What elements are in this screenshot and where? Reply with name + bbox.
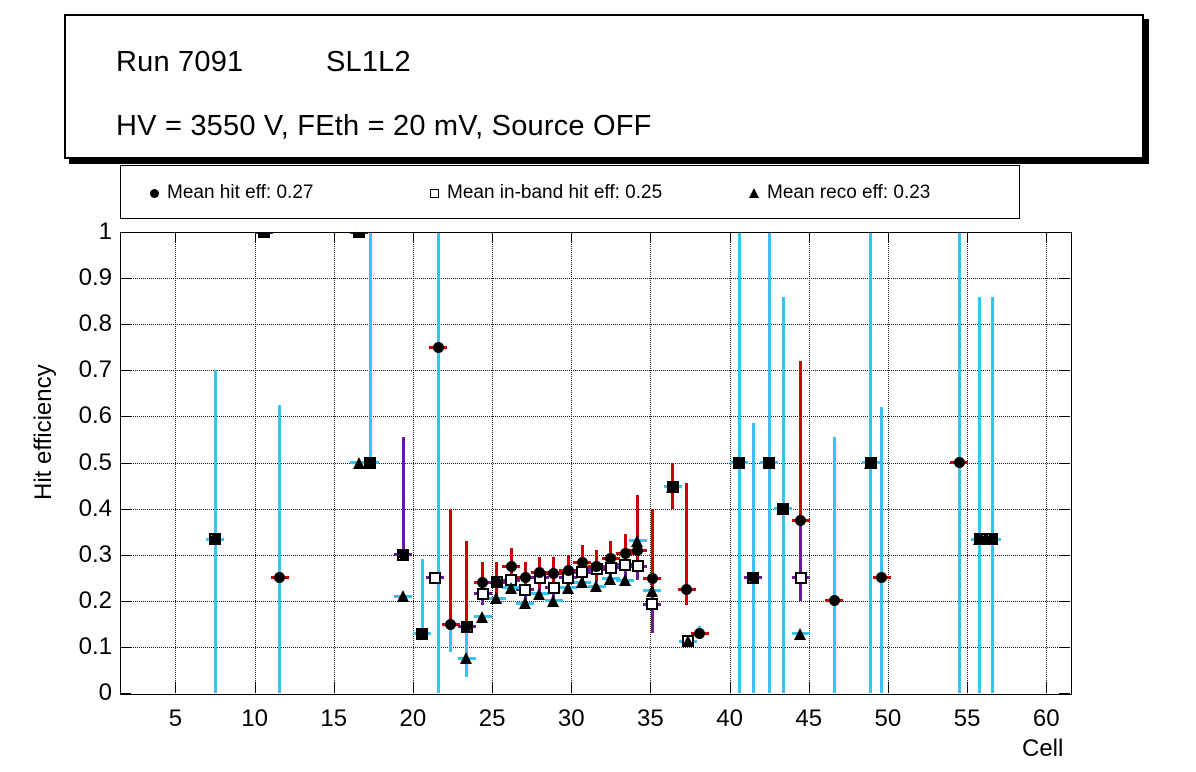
x-tick [571,232,572,243]
y-tick [1059,601,1070,602]
open-square-icon [421,166,447,220]
y-tick [120,601,131,602]
x-tick-label: 60 [1033,705,1060,733]
x-tick-label: 35 [637,705,664,733]
y-tick [120,463,131,464]
y-tick [1059,509,1070,510]
x-tick-label: 50 [875,705,902,733]
x-tick [650,682,651,693]
y-tick [1059,370,1070,371]
y-tick-label: 0.2 [48,587,112,615]
y-tick [1059,693,1070,694]
y-tick [120,509,131,510]
y-tick-label: 0 [48,679,112,707]
x-tick [809,232,810,243]
x-tick [730,232,731,243]
y-tick-label: 0.8 [48,310,112,338]
x-tick [809,682,810,693]
y-tick [1059,278,1070,279]
x-tick-label: 10 [241,705,268,733]
x-tick [413,682,414,693]
y-tick [120,647,131,648]
y-tick [1059,555,1070,556]
x-axis-title: Cell [1022,735,1063,763]
x-tick [888,682,889,693]
x-tick [1046,682,1047,693]
legend-label: Mean hit eff: 0.27 [167,182,313,204]
x-tick-label: 25 [479,705,506,733]
x-tick [334,682,335,693]
x-tick [175,232,176,243]
x-tick [650,232,651,243]
y-axis-title: Hit efficiency [30,364,58,500]
y-tick [1059,324,1070,325]
x-tick-label: 20 [400,705,427,733]
x-tick [255,682,256,693]
x-tick [730,682,731,693]
y-tick [120,693,131,694]
y-tick [120,278,131,279]
x-tick-label: 5 [169,705,182,733]
title-box: Run 7091 SL1L2 HV = 3550 V, FEth = 20 mV… [64,14,1144,159]
legend-label: Mean in-band hit eff: 0.25 [447,182,662,204]
x-tick-label: 45 [795,705,822,733]
y-tick-label: 0.9 [48,264,112,292]
y-tick [1059,463,1070,464]
plot-canvas: Run 7091 SL1L2 HV = 3550 V, FEth = 20 mV… [0,0,1196,772]
y-tick-label: 1 [48,218,112,246]
y-tick [120,324,131,325]
y-tick [1059,232,1070,233]
legend-entry-2: Mean reco eff: 0.23 [741,166,930,220]
y-tick [1059,647,1070,648]
y-tick [120,555,131,556]
legend-label: Mean reco eff: 0.23 [767,182,930,204]
x-tick-label: 55 [954,705,981,733]
x-tick [888,232,889,243]
filled-triangle-icon [741,166,767,220]
x-tick [175,682,176,693]
title-line-2: HV = 3550 V, FEth = 20 mV, Source OFF [116,110,652,143]
x-tick [413,232,414,243]
legend: Mean hit eff: 0.27Mean in-band hit eff: … [120,165,1020,219]
x-tick-label: 30 [558,705,585,733]
y-tick [120,370,131,371]
y-tick [120,232,131,233]
x-tick [255,232,256,243]
x-tick [492,232,493,243]
x-tick-label: 15 [320,705,347,733]
plot-frame [120,232,1072,695]
legend-entry-1: Mean in-band hit eff: 0.25 [421,166,662,220]
title-line-1: Run 7091 SL1L2 [116,46,411,79]
x-tick-label: 40 [716,705,743,733]
x-tick [492,682,493,693]
y-tick-label: 0.1 [48,633,112,661]
y-tick [120,416,131,417]
y-tick-label: 0.3 [48,541,112,569]
legend-entry-0: Mean hit eff: 0.27 [141,166,313,220]
x-tick [967,232,968,243]
x-tick [1046,232,1047,243]
x-tick [334,232,335,243]
x-tick [967,682,968,693]
y-tick [1059,416,1070,417]
filled-circle-icon [141,166,167,220]
x-tick [571,682,572,693]
